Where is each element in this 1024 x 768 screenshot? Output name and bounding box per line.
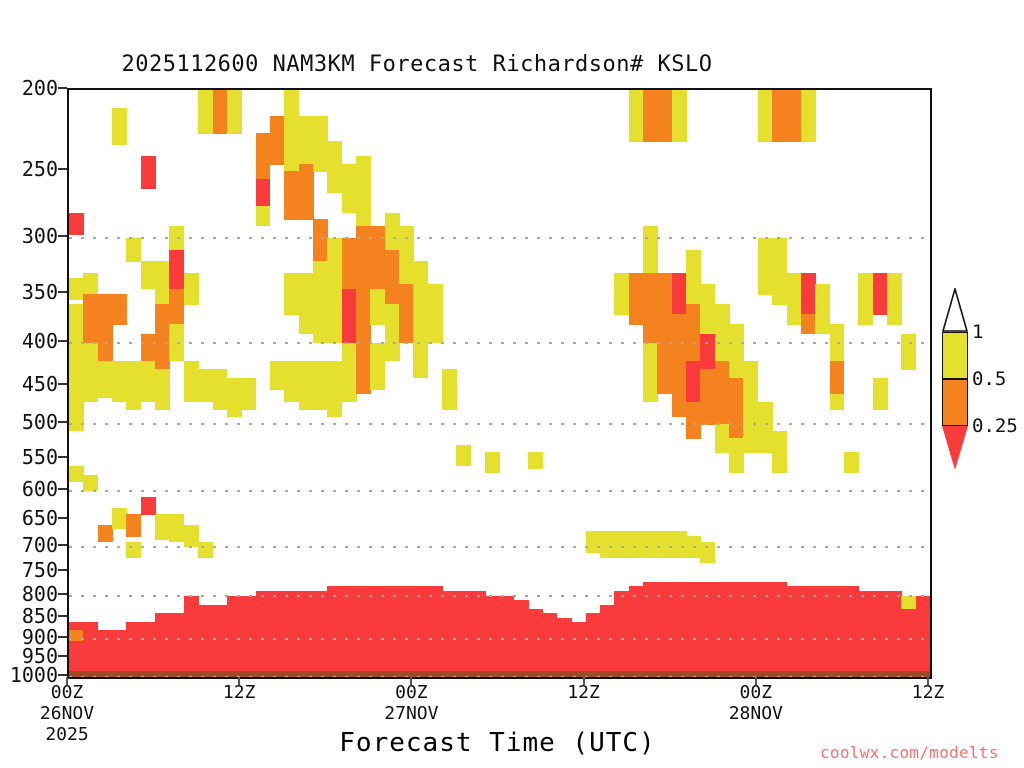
x-axis-tick-mark: [66, 677, 68, 685]
x-tick-time: 00Z: [51, 682, 84, 703]
colorbar-segment-yellow: [942, 332, 968, 379]
x-tick-time: 00Z: [740, 682, 773, 703]
x-axis-tick-label: 12Z: [567, 682, 600, 703]
x-axis-tick-mark: [410, 677, 412, 685]
x-tick-date: 27NOV: [384, 703, 438, 724]
watermark: coolwx.com/modelts: [820, 743, 999, 762]
colorbar-top-arrow-icon: [942, 288, 968, 332]
colorbar-tick-label: 0.25: [972, 415, 1018, 437]
x-axis-tick-label: 12Z: [912, 682, 945, 703]
x-axis-tick-label: 00Z28NOV: [729, 682, 783, 724]
x-tick-date: 26NOV: [40, 703, 94, 724]
x-axis-tick-mark: [927, 677, 929, 685]
x-axis-tick-label: 00Z27NOV: [384, 682, 438, 724]
x-tick-date: 28NOV: [729, 703, 783, 724]
colorbar-segment-orange: [942, 379, 968, 426]
x-axis: 00Z26NOV202512Z00Z27NOV12Z00Z28NOV12Z: [0, 0, 1024, 768]
x-tick-time: 12Z: [567, 682, 600, 703]
x-axis-title: Forecast Time (UTC): [67, 728, 928, 758]
colorbar: 10.50.25: [942, 288, 968, 470]
x-axis-tick-mark: [755, 677, 757, 685]
x-axis-tick-label: 12Z: [223, 682, 256, 703]
x-tick-time: 00Z: [395, 682, 428, 703]
x-tick-time: 12Z: [223, 682, 256, 703]
x-axis-tick-mark: [238, 677, 240, 685]
colorbar-tick-label: 0.5: [972, 368, 1006, 390]
colorbar-bottom-arrow-icon: [942, 426, 968, 470]
x-tick-time: 12Z: [912, 682, 945, 703]
colorbar-tick-label: 1: [972, 321, 983, 343]
x-axis-tick-mark: [583, 677, 585, 685]
chart-root: 2025112600 NAM3KM Forecast Richardson# K…: [0, 0, 1024, 768]
